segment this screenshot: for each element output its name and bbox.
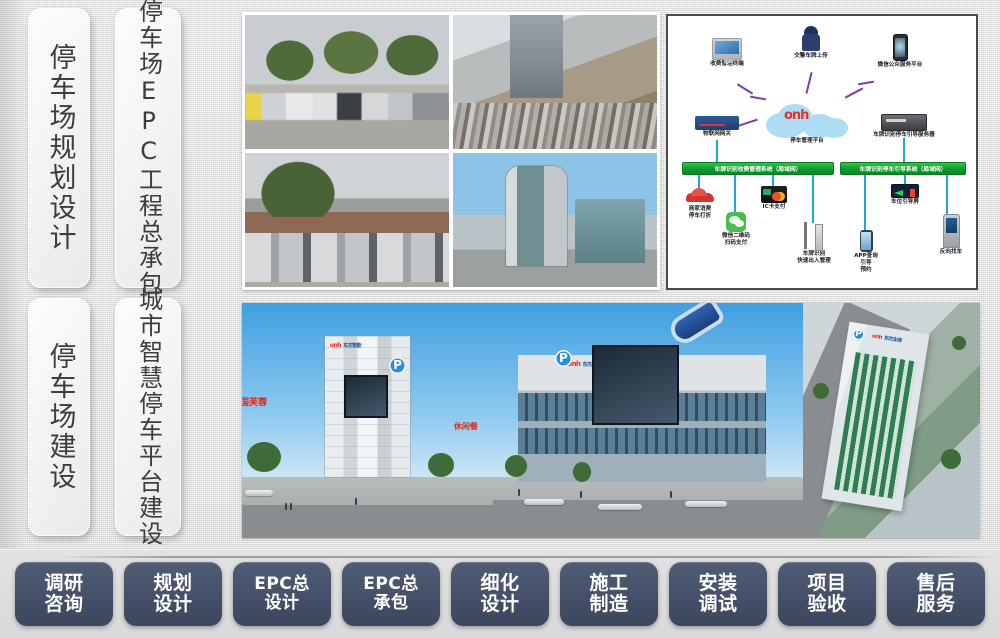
system-architecture-diagram: onh 停车管理平台 收费管理终端 交警车牌上传 微信公众服务平台 物联网网关 <box>666 14 978 290</box>
bolt-connector-police <box>805 72 812 94</box>
cloud-platform-label: 停车管理平台 <box>764 138 850 145</box>
leaf-label: 反向找车 <box>936 249 966 256</box>
leaf-lpr-gate: 车牌识别 快速出入管理 <box>792 220 836 265</box>
cloud-platform-label-node: 停车管理平台 <box>764 138 850 145</box>
cloud-platform-icon: onh <box>764 102 850 138</box>
node-wechat-platform: 微信公众服务平台 <box>864 34 936 69</box>
parking-p-mark: P <box>851 327 865 341</box>
process-step-aftersales[interactable]: 售后 服务 <box>887 562 985 626</box>
brand-mark: onh <box>871 333 882 341</box>
brand-name-cn: 东杰车库 <box>883 335 902 344</box>
leaf-line-findcar <box>946 175 948 217</box>
process-step-epc-design[interactable]: EPC总 设计 <box>233 562 331 626</box>
node-label: 交警车牌上传 <box>781 53 841 60</box>
bolt-connector-terminal-2 <box>750 96 766 101</box>
photo-collage <box>242 12 660 290</box>
leaf-label: IC卡支付 <box>756 204 792 211</box>
process-step-install[interactable]: 安装 调试 <box>669 562 767 626</box>
parking-guidance-screen-icon <box>891 184 919 198</box>
barrier-gate-icon <box>801 220 827 250</box>
police-officer-icon <box>800 26 822 52</box>
cloud-brand-logo: onh <box>784 108 808 123</box>
render-aerial-tower: onh东杰车库 P <box>803 303 980 538</box>
render-tower-garage: onh东杰智能 P 国芙蓉 休闲餐 <box>242 303 493 538</box>
leaf-guide-screen: 车位引导屏 <box>890 184 920 206</box>
photo-brick-lot <box>245 153 449 287</box>
building-brand: onh东杰车库 <box>871 332 902 344</box>
self-service-kiosk-icon <box>943 214 960 248</box>
red-car-icon <box>686 188 714 205</box>
monitor-icon <box>712 38 742 60</box>
photo-glass-tower <box>453 153 657 287</box>
connector-gateway-to-bar <box>716 140 718 162</box>
leaf-label: 车位引导屏 <box>890 199 920 206</box>
leaf-label: 车牌识别 快速出入管理 <box>792 251 836 265</box>
service-card-label: 停车场EPC工程总承包 <box>133 0 162 297</box>
poster-root: 停车场规划设计 停车场EPC工程总承包 停车场建设 城市智慧停车平台建设 onh… <box>0 0 1000 638</box>
gateway-router-icon <box>695 116 739 130</box>
service-card-smart-platform[interactable]: 城市智慧停车平台建设 <box>115 298 181 536</box>
process-step-manufacture[interactable]: 施工 制造 <box>560 562 658 626</box>
led-billboard <box>592 345 679 425</box>
system-bar-charge: 车牌识别收费管理系统（局域网） <box>682 162 834 175</box>
leaf-line-app <box>864 175 866 233</box>
service-card-planning-design[interactable]: 停车场规划设计 <box>28 8 90 288</box>
system-bar-label: 车牌识别收费管理系统（局域网） <box>715 164 802 173</box>
process-step-bar: 调研 咨询 规划 设计 EPC总 设计 EPC总 承包 细化 设计 施工 制造 … <box>0 550 1000 638</box>
shop-sign-left: 国芙蓉 <box>242 395 267 408</box>
smartphone-icon <box>893 34 908 61</box>
service-card-epc-contract[interactable]: 停车场EPC工程总承包 <box>115 8 181 288</box>
process-step-detail[interactable]: 细化 设计 <box>451 562 549 626</box>
system-bar-guide: 车牌识别停车引导系统（局域网） <box>840 162 966 175</box>
connector-server-to-bar <box>903 138 905 162</box>
node-guide-server: 车牌识别停车引导服务器 <box>864 114 944 139</box>
leaf-ic-card-pay: IC卡支付 <box>756 186 792 211</box>
leaf-wechat-qr-pay: 微信二维码 扫码支付 <box>712 212 760 247</box>
node-charge-terminal: 收费管理终端 <box>694 38 760 68</box>
leaf-label: APP查询 引导 预约 <box>852 253 880 274</box>
photo-aerial-lot <box>453 15 657 149</box>
system-bar-label: 车牌识别停车引导系统（局域网） <box>860 164 947 173</box>
process-step-epc-general[interactable]: EPC总 承包 <box>342 562 440 626</box>
node-iot-gateway: 物联网网关 <box>684 116 750 138</box>
facade-billboard <box>344 375 388 417</box>
node-label: 物联网网关 <box>684 131 750 138</box>
bank-card-icon <box>761 186 787 203</box>
service-card-label: 城市智慧停车平台建设 <box>133 287 162 547</box>
photo-street-parking <box>245 15 449 149</box>
parking-p-mark: P <box>389 357 406 374</box>
leaf-label: 微信二维码 扫码支付 <box>712 233 760 247</box>
service-card-construction[interactable]: 停车场建设 <box>28 298 90 536</box>
process-step-acceptance[interactable]: 项目 验收 <box>778 562 876 626</box>
service-card-label: 停车场建设 <box>43 342 76 492</box>
bolt-connector-wechat-2 <box>858 81 874 86</box>
process-step-planning[interactable]: 规划 设计 <box>124 562 222 626</box>
service-card-label: 停车场规划设计 <box>43 43 76 253</box>
node-traffic-police: 交警车牌上传 <box>781 26 841 60</box>
server-rack-icon <box>881 114 927 131</box>
leaf-line-lpr <box>812 175 814 223</box>
wechat-icon <box>726 212 746 232</box>
parking-p-mark: P <box>555 350 572 367</box>
bolt-connector-terminal <box>737 83 753 94</box>
shop-sign-right: 休闲餐 <box>454 421 478 432</box>
node-label: 微信公众服务平台 <box>864 62 936 69</box>
bolt-connector-wechat <box>845 87 864 98</box>
process-step-survey[interactable]: 调研 咨询 <box>15 562 113 626</box>
leaf-app-query: APP查询 引导 预约 <box>852 230 880 274</box>
brand-mark: onh <box>330 342 341 349</box>
building-brand: onh东杰智能 <box>330 342 361 349</box>
render-podium-garage: onh东杰车库 P <box>493 303 803 538</box>
brand-name-cn: 东杰智能 <box>343 343 361 349</box>
app-phone-icon <box>860 230 873 252</box>
leaf-line-wechat <box>734 175 736 213</box>
tower-building: onh东杰智能 P <box>325 336 410 477</box>
leaf-find-car: 反向找车 <box>936 214 966 256</box>
rendering-strip: onh东杰智能 P 国芙蓉 休闲餐 onh东杰车库 <box>242 303 980 538</box>
